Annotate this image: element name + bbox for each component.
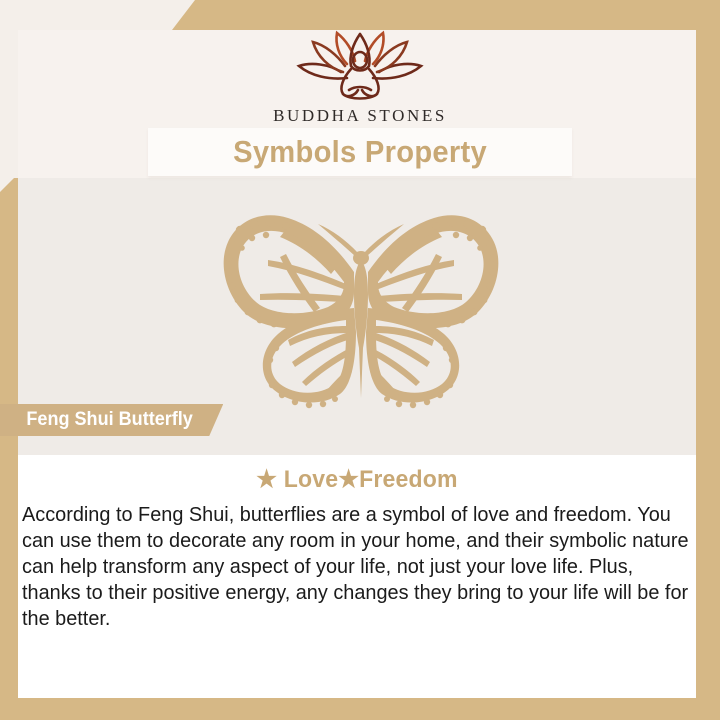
- lotus-meditation-icon: [285, 28, 435, 104]
- frame-left-bar: [0, 178, 18, 720]
- symbols-property-infographic: BUDDHA STONES Symbols Property: [0, 0, 720, 720]
- page-title: Symbols Property: [233, 134, 487, 170]
- brand-logo: BUDDHA STONES: [0, 28, 720, 126]
- description-panel: ★ Love★Freedom According to Feng Shui, b…: [18, 455, 696, 698]
- frame-top-bar: [0, 0, 720, 30]
- feng-shui-butterfly-label: Feng Shui Butterfly: [0, 404, 223, 436]
- feng-shui-butterfly-label-text: Feng Shui Butterfly: [26, 409, 192, 431]
- brand-wordmark: BUDDHA STONES: [0, 106, 720, 126]
- description-paragraph: According to Feng Shui, butterflies are …: [22, 502, 691, 632]
- title-band: Symbols Property: [148, 128, 572, 176]
- love-freedom-subheading: ★ Love★Freedom: [32, 465, 683, 494]
- frame-bottom-bar: [0, 698, 720, 720]
- butterfly-icon: [196, 208, 526, 418]
